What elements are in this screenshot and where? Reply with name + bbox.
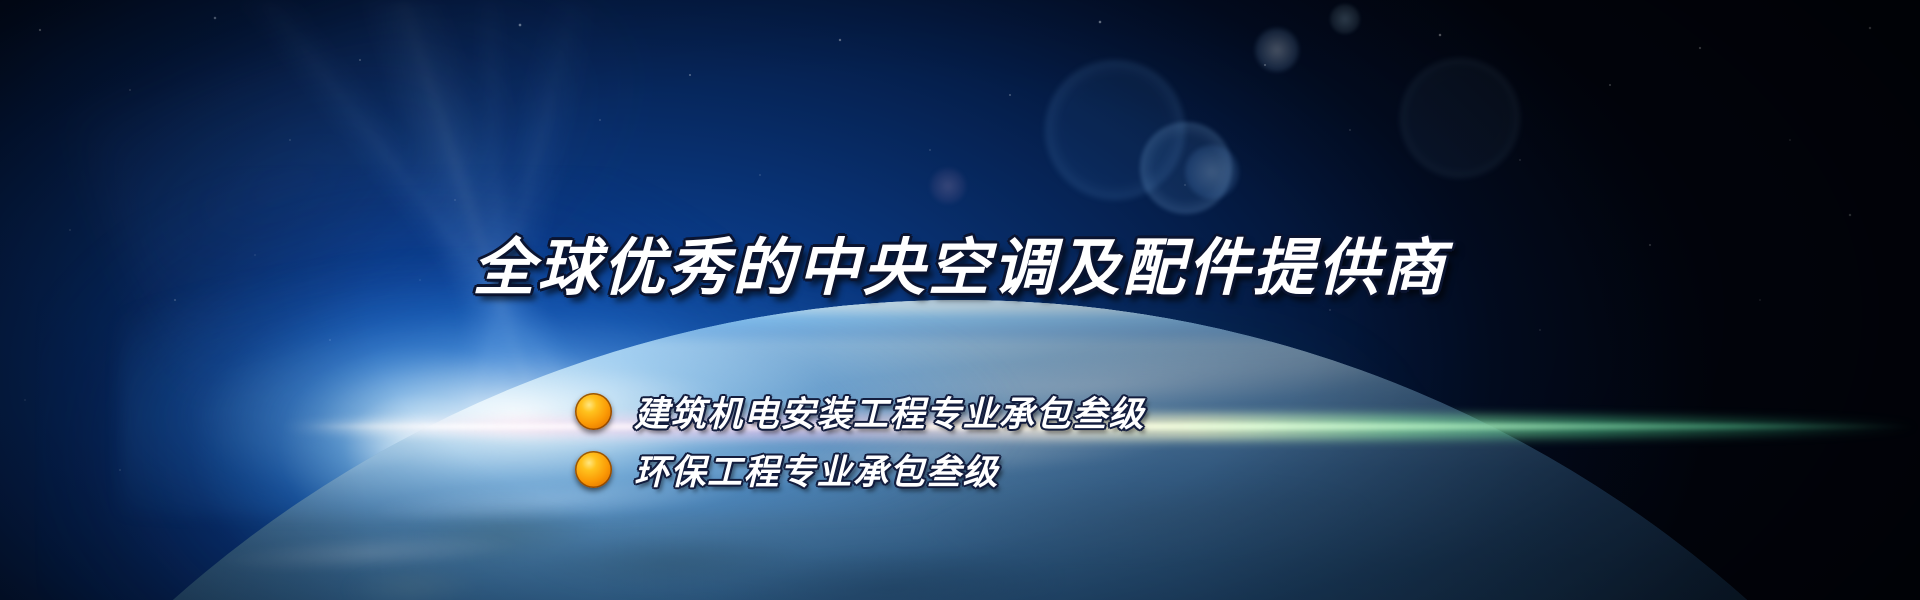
banner-content: 全球优秀的中央空调及配件提供商 建筑机电安装工程专业承包叁级 环保工程专业承包叁… — [0, 0, 1920, 600]
hero-banner: 全球优秀的中央空调及配件提供商 建筑机电安装工程专业承包叁级 环保工程专业承包叁… — [0, 0, 1920, 600]
list-item: 环保工程专业承包叁级 — [575, 440, 1145, 498]
bullet-label: 建筑机电安装工程专业承包叁级 — [634, 386, 1145, 437]
list-item: 建筑机电安装工程专业承包叁级 — [575, 382, 1145, 440]
bullet-label: 环保工程专业承包叁级 — [634, 444, 999, 495]
banner-headline: 全球优秀的中央空调及配件提供商 — [0, 238, 1920, 300]
orange-dot-bullet-icon — [575, 393, 612, 430]
orange-dot-bullet-icon — [575, 451, 612, 488]
banner-bullet-list: 建筑机电安装工程专业承包叁级 环保工程专业承包叁级 — [575, 382, 1145, 498]
